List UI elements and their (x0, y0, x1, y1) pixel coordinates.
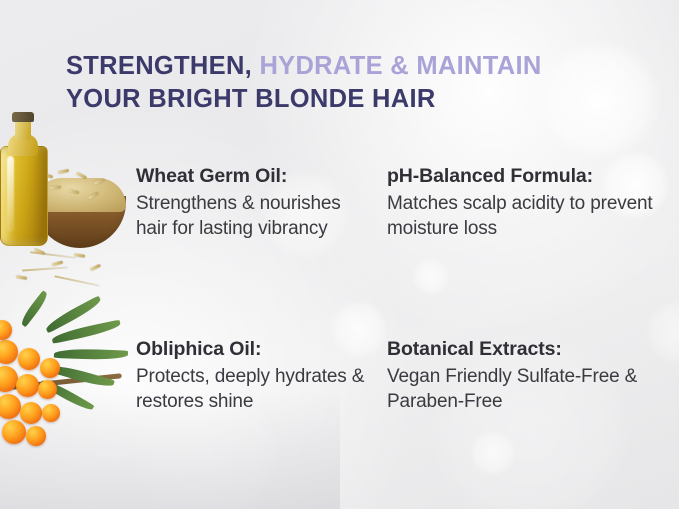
wheat-grain (58, 169, 69, 175)
berry (0, 320, 12, 340)
feature-body: Protects, deeply hydrates & restores shi… (136, 364, 376, 414)
berry-leaf (54, 348, 128, 361)
promo-infographic: Strengthen, Hydrate & Maintain Your Brig… (0, 0, 679, 509)
berry (42, 404, 60, 422)
feature-body: Matches scalp acidity to prevent moistur… (387, 191, 662, 241)
feature-title: pH-Balanced Formula: (387, 165, 662, 188)
feature-ph-balanced-formula: pH-Balanced Formula: Matches scalp acidi… (387, 165, 662, 242)
oil-bottle-cap (12, 112, 34, 122)
feature-title: Wheat Germ Oil: (136, 165, 376, 188)
berry (0, 340, 18, 364)
headline-line1-hydrate-maintain: Hydrate & Maintain (252, 52, 542, 80)
oil-bottle (0, 112, 46, 244)
berry (26, 426, 46, 446)
berry (2, 420, 26, 444)
feature-body: Strengthens & nourishes hair for lasting… (136, 191, 376, 241)
berry (38, 380, 57, 399)
berry (18, 348, 40, 370)
wheat-grain (16, 275, 27, 280)
headline: Strengthen, Hydrate & Maintain Your Brig… (66, 50, 636, 115)
bokeh-light (412, 258, 450, 296)
wheat-germ-oil-photo (0, 104, 126, 309)
bokeh-light (470, 430, 516, 476)
headline-line1-strengthen: Strengthen, (66, 52, 252, 80)
feature-title: Obliphica Oil: (136, 338, 376, 361)
berry (16, 374, 39, 397)
wheat-stalk (54, 275, 99, 287)
feature-body: Vegan Friendly Sulfate-Free & Paraben-Fr… (387, 364, 662, 414)
sea-buckthorn-berries-photo (0, 318, 140, 458)
berry (20, 402, 42, 424)
feature-title: Botanical Extracts: (387, 338, 662, 361)
berry (40, 358, 60, 378)
feature-wheat-germ-oil: Wheat Germ Oil: Strengthens & nourishes … (136, 165, 376, 242)
feature-obliphica-oil: Obliphica Oil: Protects, deeply hydrates… (136, 338, 376, 415)
feature-botanical-extracts: Botanical Extracts: Vegan Friendly Sulfa… (387, 338, 662, 415)
oil-bottle-highlight (7, 156, 14, 232)
berry (0, 394, 21, 419)
wheat-stalk (22, 266, 68, 271)
wheat-grain (90, 264, 101, 272)
